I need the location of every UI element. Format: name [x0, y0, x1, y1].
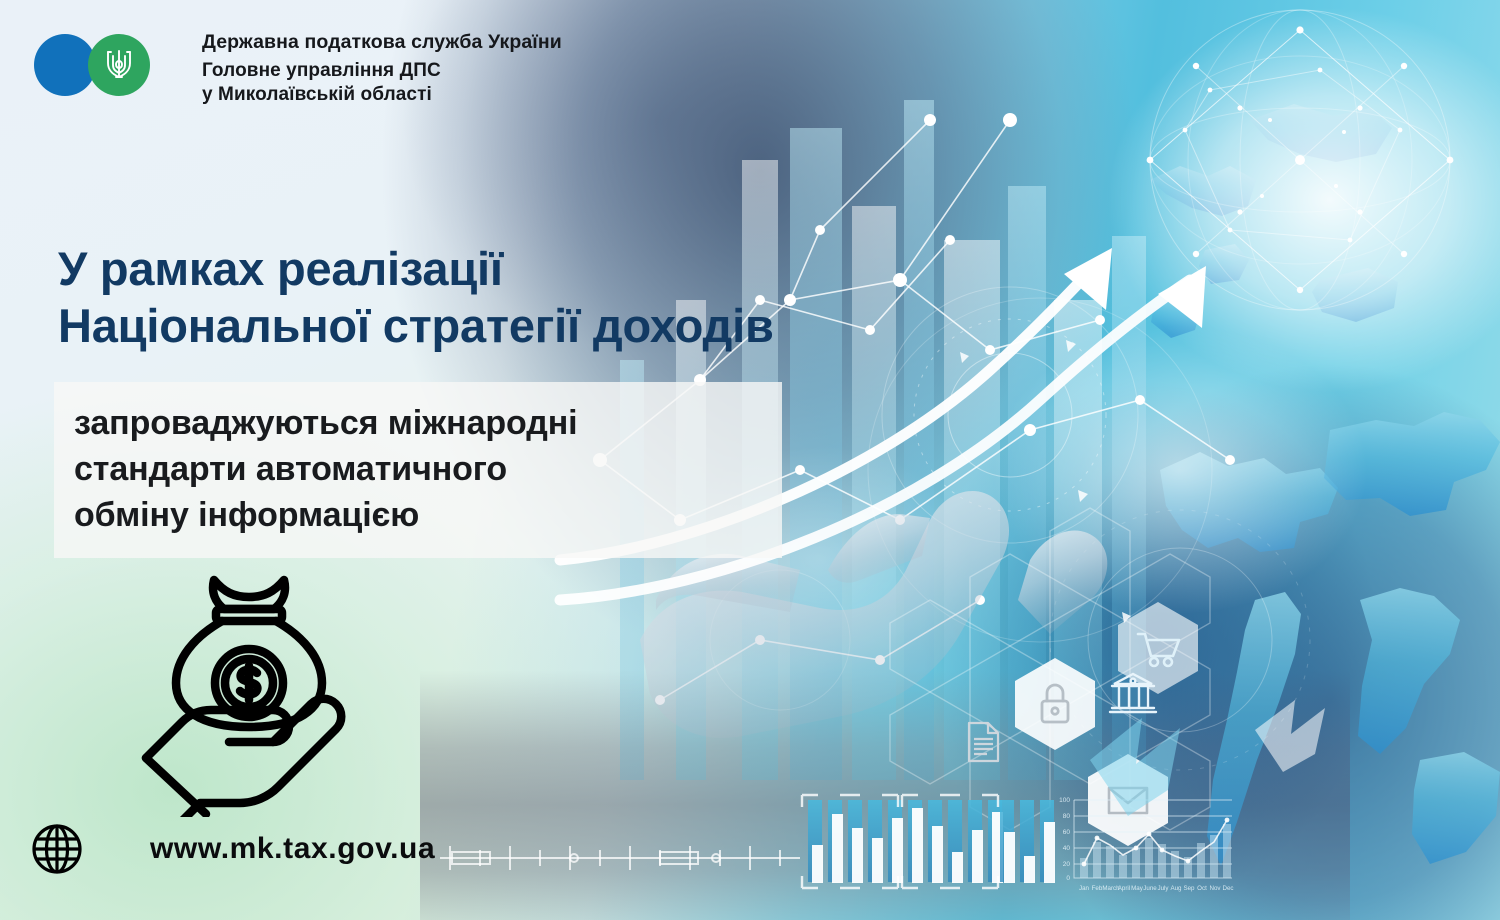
organisation-logo: Державна податкова служба України Головн…	[34, 30, 562, 107]
logo-green-circle	[88, 34, 150, 96]
headline: У рамках реалізації Національної стратег…	[58, 240, 774, 354]
org-line-1: Державна податкова служба України	[202, 30, 562, 55]
organisation-name-block: Державна податкова служба України Головн…	[202, 30, 562, 107]
org-line-2: Головне управління ДПС	[202, 59, 562, 83]
poster-canvas: 10080 6040 200 JanFebMarch AprilMayJune …	[0, 0, 1500, 920]
headline-line-2: Національної стратегії доходів	[58, 297, 774, 354]
subhead-line-2: стандарти автоматичного	[74, 446, 760, 492]
globe-icon	[30, 822, 84, 876]
footer: www.mk.tax.gov.ua	[30, 822, 435, 876]
logo-blue-circle	[34, 34, 96, 96]
headline-line-1: У рамках реалізації	[58, 240, 774, 297]
subhead-panel: запроваджуються міжнародні стандарти авт…	[54, 382, 782, 558]
subhead-line-3: обміну інформацією	[74, 492, 760, 538]
ukraine-trident-icon	[104, 47, 134, 83]
website-url[interactable]: www.mk.tax.gov.ua	[150, 832, 435, 866]
logo-circles	[34, 34, 158, 96]
org-line-3: у Миколаївській області	[202, 83, 562, 107]
hand-holding-money-bag-icon	[122, 562, 377, 817]
subhead-line-1: запроваджуються міжнародні	[74, 400, 760, 446]
